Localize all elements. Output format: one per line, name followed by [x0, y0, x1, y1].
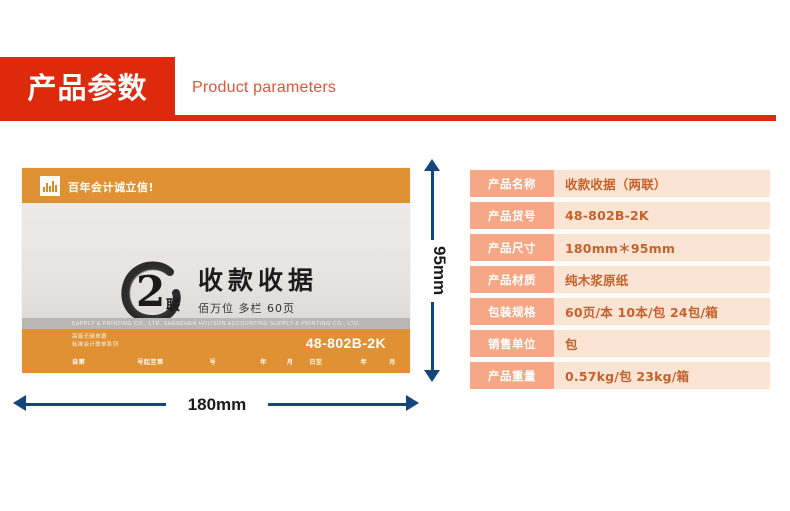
- cover-top-band: 百年会计诚立信!: [22, 168, 410, 203]
- table-row: 产品尺寸 180mm＊95mm: [470, 234, 770, 261]
- width-dimension-arrow: 180mm: [22, 390, 410, 420]
- width-arrow-head-left-icon: [13, 395, 26, 411]
- form-field-6: 年: [361, 357, 368, 366]
- page-title-cn: 产品参数: [27, 65, 147, 107]
- header-red-badge: 产品参数: [0, 57, 175, 115]
- product-photo: 百年会计诚立信! 2 联 收款收据 佰万位 多栏 60页: [22, 168, 410, 373]
- series-line-2: 标准会计联单系列: [72, 342, 118, 350]
- cover-series-text: 高级无碳单据 标准会计联单系列: [72, 334, 118, 350]
- spec-value: 180mm＊95mm: [554, 234, 770, 261]
- height-dimension-arrow: 95mm: [420, 168, 466, 373]
- cover-subtitle: 佰万位 多栏 60页: [198, 300, 318, 316]
- table-row: 产品重量 0.57kg/包 23kg/箱: [470, 362, 770, 389]
- cover-form-row: 自第 号起至第 号 年 月 日至 年 月 日: [22, 357, 410, 366]
- spec-value: 纯木浆原纸: [554, 266, 770, 293]
- company-band-text: SUPPLY & PRINTING CO., LTD. SHENZHEN HOL…: [72, 321, 361, 327]
- logo-bars: [43, 180, 57, 192]
- cover-title-block: 收款收据 佰万位 多栏 60页: [198, 259, 318, 316]
- spec-table: 产品名称 收款收据（两联） 产品货号 48-802B-2K 产品尺寸 180mm…: [470, 170, 770, 394]
- spec-label: 产品尺寸: [470, 234, 554, 261]
- section-header: 产品参数 Product parameters: [0, 57, 790, 115]
- cover-slogan: 百年会计诚立信!: [68, 179, 154, 195]
- height-arrow-head-up-icon: [424, 159, 440, 171]
- cover-white-panel: 2 联 收款收据 佰万位 多栏 60页: [22, 203, 410, 318]
- form-field-0: 自第: [72, 357, 85, 366]
- header-divider-rule: [0, 115, 776, 121]
- table-row: 产品货号 48-802B-2K: [470, 202, 770, 229]
- spec-value: 收款收据（两联）: [554, 170, 770, 197]
- form-field-1: 号起至第: [137, 357, 163, 366]
- cover-item-code: 48-802B-2K: [306, 335, 386, 351]
- enso-circle-icon: 2 联: [118, 259, 184, 325]
- spec-value: 包: [554, 330, 770, 357]
- spec-value: 48-802B-2K: [554, 202, 770, 229]
- form-field-7: 月: [389, 357, 396, 366]
- spec-value: 0.57kg/包 23kg/箱: [554, 362, 770, 389]
- height-dimension-label: 95mm: [416, 244, 462, 298]
- table-row: 包装规格 60页/本 10本/包 24包/箱: [470, 298, 770, 325]
- spec-label: 产品材质: [470, 266, 554, 293]
- badge-unit: 联: [166, 295, 180, 315]
- spec-label: 包装规格: [470, 298, 554, 325]
- page-title-en: Product parameters: [192, 79, 336, 97]
- receipt-book-cover: 百年会计诚立信! 2 联 收款收据 佰万位 多栏 60页: [22, 168, 410, 373]
- spec-label: 产品货号: [470, 202, 554, 229]
- height-arrow-head-down-icon: [424, 370, 440, 382]
- table-row: 产品材质 纯木浆原纸: [470, 266, 770, 293]
- spec-value: 60页/本 10本/包 24包/箱: [554, 298, 770, 325]
- form-field-4: 月: [287, 357, 294, 366]
- form-field-5: 日至: [309, 357, 322, 366]
- form-field-3: 年: [260, 357, 267, 366]
- width-dimension-label: 180mm: [162, 393, 272, 416]
- cover-company-band: SUPPLY & PRINTING CO., LTD. SHENZHEN HOL…: [22, 318, 410, 329]
- badge-number: 2: [136, 271, 165, 313]
- series-line-1: 高级无碳单据: [72, 334, 118, 342]
- cover-title: 收款收据: [198, 268, 318, 293]
- table-row: 产品名称 收款收据（两联）: [470, 170, 770, 197]
- spec-label: 产品名称: [470, 170, 554, 197]
- cover-center-block: 2 联 收款收据 佰万位 多栏 60页: [118, 259, 318, 325]
- width-arrow-head-right-icon: [406, 395, 419, 411]
- spec-label: 销售单位: [470, 330, 554, 357]
- form-field-2: 号: [210, 357, 217, 366]
- product-parameters-page: 产品参数 Product parameters 百年会计诚立信!: [0, 0, 790, 511]
- brand-logo-icon: [40, 176, 60, 196]
- spec-label: 产品重量: [470, 362, 554, 389]
- cover-bottom-band: 高级无碳单据 标准会计联单系列 48-802B-2K 自第 号起至第 号 年 月…: [22, 329, 410, 373]
- table-row: 销售单位 包: [470, 330, 770, 357]
